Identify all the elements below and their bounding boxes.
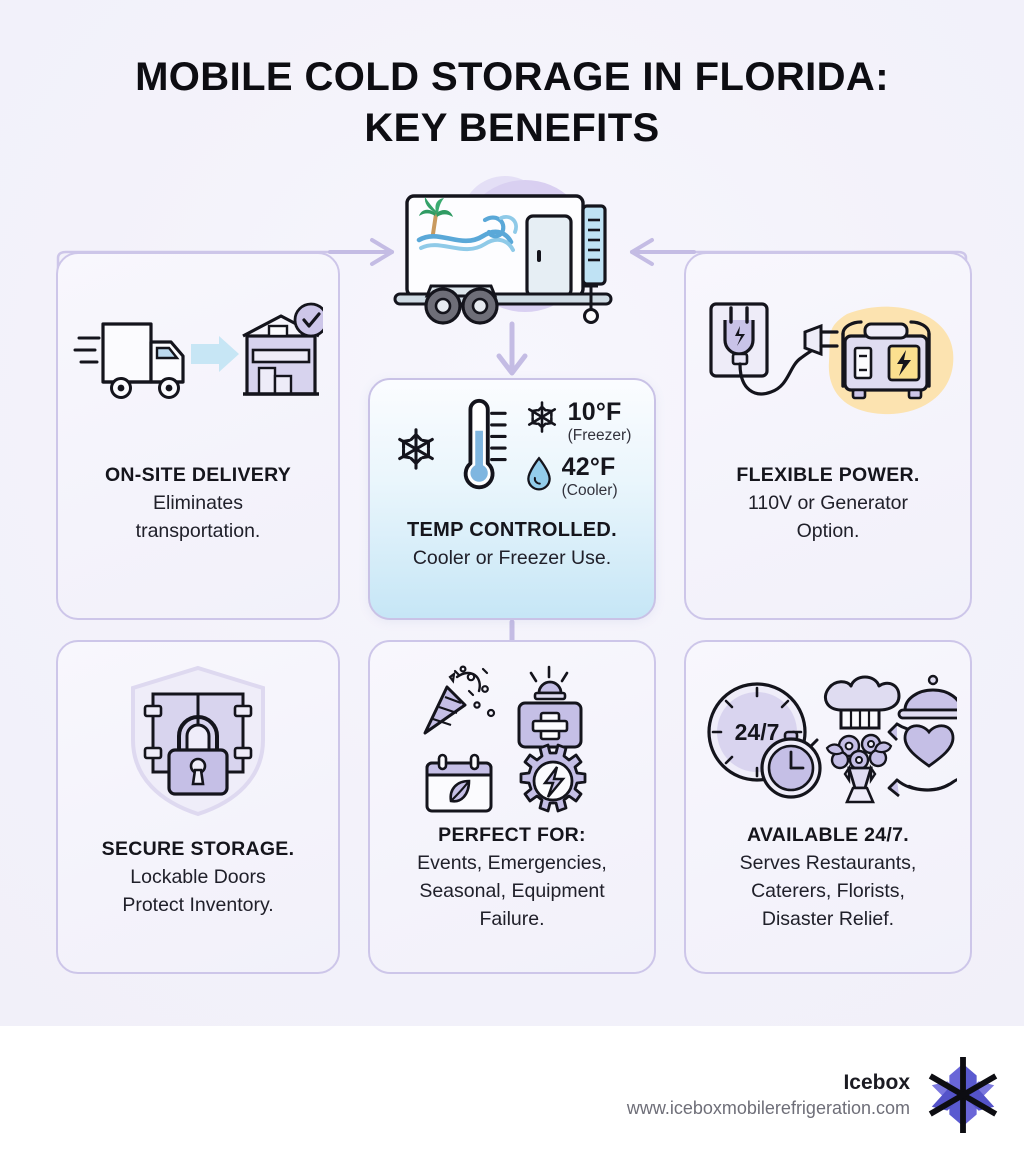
delivery-text: ON-SITE DELIVERY Eliminates transportati… [58, 464, 338, 546]
chef-hat-icon [825, 677, 899, 728]
hero-trailer [379, 168, 645, 338]
card-title: AVAILABLE 24/7. [698, 824, 958, 847]
calendar-leaf-icon [427, 755, 491, 811]
perfect-text: PERFECT FOR: Events, Emergencies, Season… [370, 824, 654, 933]
card-desc-line1: Lockable Doors [70, 864, 326, 892]
first-aid-siren-icon [519, 667, 581, 747]
card-desc-line2: Option. [698, 518, 958, 546]
infographic-root: MOBILE COLD STORAGE IN FLORIDA: KEY BENE… [0, 0, 1024, 1154]
card-desc-line1: 110V or Generator [698, 490, 958, 518]
card-desc: Serves Restaurants, Caterers, Florists, … [698, 850, 958, 933]
temp-readout-cooler: 42°F (Cooler) [525, 455, 632, 499]
card-desc: Eliminates transportation. [70, 490, 326, 545]
card-desc-line2: transportation. [70, 518, 326, 546]
power-text: FLEXIBLE POWER. 110V or Generator Option… [686, 464, 970, 546]
card-desc: Events, Emergencies, Seasonal, Equipment… [382, 850, 642, 933]
arrow-right-icon [191, 336, 239, 372]
card-desc-line2: Seasonal, Equipment [382, 878, 642, 906]
temp-label-freezer: (Freezer) [568, 428, 632, 444]
temp-value-freezer: 10°F [568, 400, 632, 425]
perfect-icon-group [370, 642, 654, 824]
card-flexible-power: FLEXIBLE POWER. 110V or Generator Option… [684, 252, 972, 620]
card-desc: 110V or Generator Option. [698, 490, 958, 545]
temp-text: TEMP CONTROLLED. Cooler or Freezer Use. [370, 518, 654, 573]
card-perfect-for: PERFECT FOR: Events, Emergencies, Season… [368, 640, 656, 974]
avail-text: AVAILABLE 24/7. Serves Restaurants, Cate… [686, 824, 970, 933]
snowflake-logo [924, 1056, 1002, 1134]
temp-readout-freezer: 10°F (Freezer) [525, 400, 632, 444]
footer: Icebox www.iceboxmobilerefrigeration.com [627, 1056, 1002, 1134]
card-on-site-delivery: ON-SITE DELIVERY Eliminates transportati… [56, 252, 340, 620]
card-desc-line3: Failure. [382, 906, 642, 934]
temp-value-cooler: 42°F [562, 455, 618, 480]
refrigerated-trailer-illustration [379, 168, 645, 338]
card-secure-storage: SECURE STORAGE. Lockable Doors Protect I… [56, 640, 340, 974]
avail-icon-group: 24/7 [686, 642, 970, 824]
snowflake-icon [525, 400, 559, 434]
card-desc: Lockable Doors Protect Inventory. [70, 864, 326, 919]
power-plug-outlet-icon [711, 304, 837, 394]
card-desc-line2: Protect Inventory. [70, 892, 326, 920]
footer-brand: Icebox [627, 1070, 910, 1095]
gear-bolt-icon [521, 745, 585, 811]
water-droplet-icon [525, 455, 553, 491]
card-desc-line2: Caterers, Florists, [698, 878, 958, 906]
motion-lines-icon [75, 338, 99, 362]
flower-bouquet-icon [827, 735, 891, 802]
temp-label-cooler: (Cooler) [562, 483, 618, 499]
footer-url[interactable]: www.iceboxmobilerefrigeration.com [627, 1096, 910, 1120]
delivery-icon-group [58, 254, 338, 464]
power-icon-group [686, 254, 970, 464]
clock-label: 24/7 [735, 719, 780, 745]
card-desc-line1: Events, Emergencies, [382, 850, 642, 878]
secure-icon-group [58, 642, 338, 838]
delivery-truck-icon [103, 324, 183, 398]
temp-readouts: 10°F (Freezer) 42°F (Cooler) [525, 400, 632, 499]
card-title: ON-SITE DELIVERY [70, 464, 326, 487]
card-desc-line1: Eliminates [70, 490, 326, 518]
card-desc-line3: Disaster Relief. [698, 906, 958, 934]
card-desc-line1: Serves Restaurants, [698, 850, 958, 878]
card-title: TEMP CONTROLLED. [382, 518, 642, 542]
heart-in-hand-icon [889, 726, 957, 796]
secure-text: SECURE STORAGE. Lockable Doors Protect I… [58, 838, 338, 920]
card-title: PERFECT FOR: [382, 824, 642, 847]
warehouse-check-icon [243, 304, 323, 394]
footer-text: Icebox www.iceboxmobilerefrigeration.com [627, 1070, 910, 1120]
party-popper-icon [425, 667, 494, 733]
card-temp-controlled: 10°F (Freezer) 42°F (Cooler) [368, 378, 656, 620]
temp-icon-group: 10°F (Freezer) 42°F (Cooler) [370, 380, 654, 518]
card-available-247: 24/7 [684, 640, 972, 974]
thermometer-icon [455, 396, 509, 502]
snowflake-icon [393, 426, 439, 472]
card-title: FLEXIBLE POWER. [698, 464, 958, 487]
card-desc: Cooler or Freezer Use. [382, 545, 642, 573]
card-title: SECURE STORAGE. [70, 838, 326, 861]
